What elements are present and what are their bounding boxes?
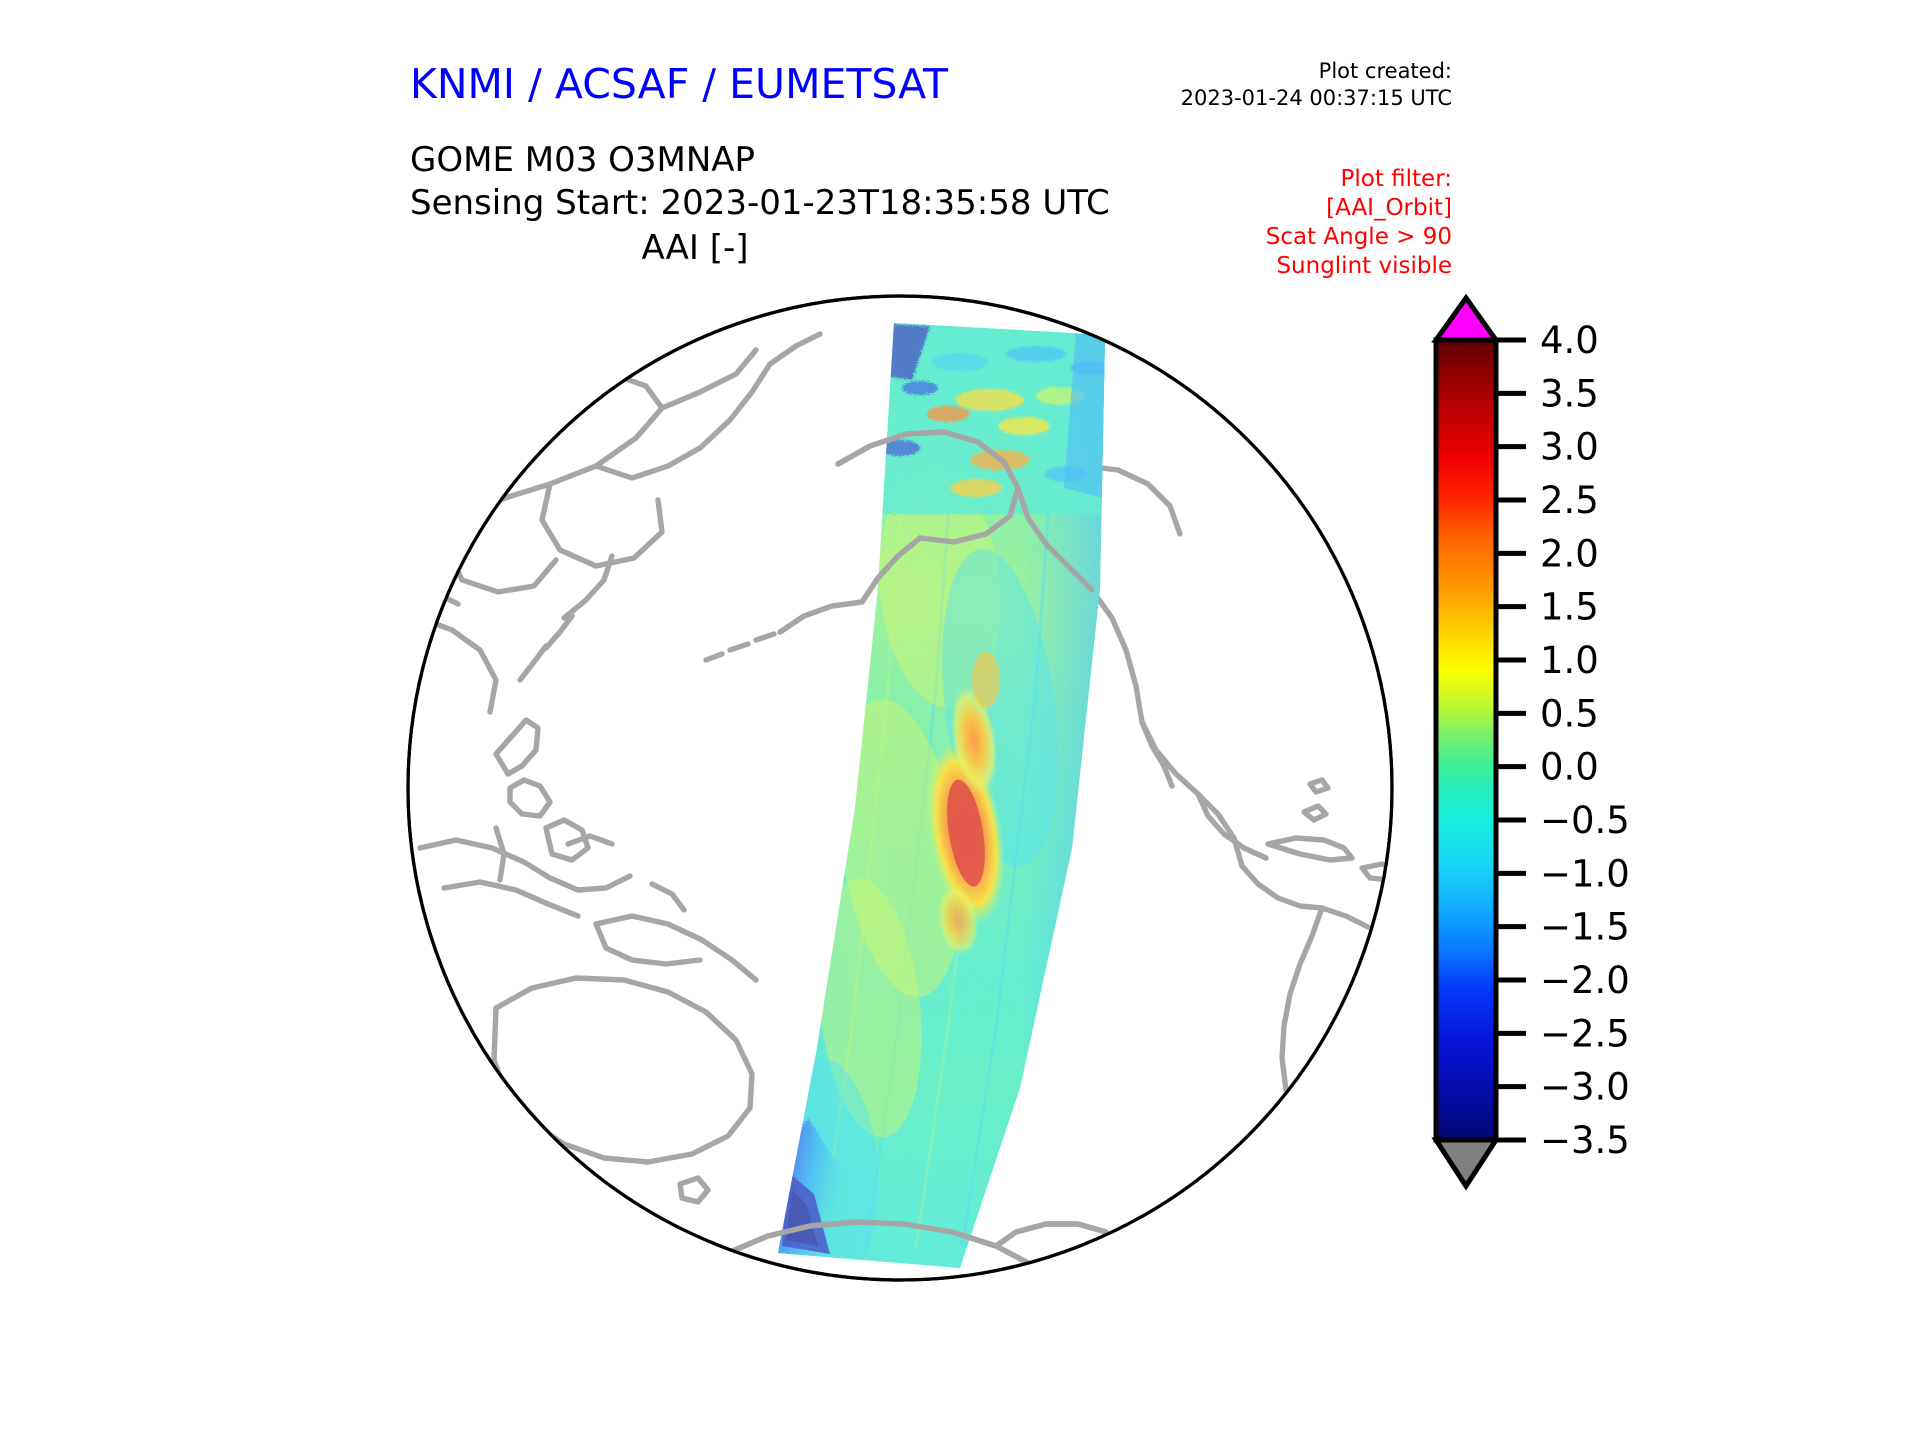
plot-filter-note: Sunglint visible <box>1266 252 1452 281</box>
colorbar-tick-label: 1.5 <box>1540 586 1599 629</box>
colorbar-tick-label: 3.5 <box>1540 372 1599 415</box>
colorbar-tick-label: 3.0 <box>1540 426 1599 469</box>
colorbar-tick-label: −3.0 <box>1540 1066 1630 1109</box>
colorbar-tick-label: −2.0 <box>1540 959 1630 1002</box>
colorbar-tick-label: 0.0 <box>1540 746 1599 789</box>
colorbar-tick-label: −3.5 <box>1540 1119 1630 1162</box>
plot-filter-variable: [AAI_Orbit] <box>1266 194 1452 223</box>
plot-filter-label: Plot filter: <box>1266 165 1452 194</box>
globe-map <box>400 288 1400 1288</box>
colorbar-under-arrow <box>1436 1140 1496 1186</box>
colorbar-tick-label: 0.5 <box>1540 692 1599 735</box>
plot-filter-block: Plot filter: [AAI_Orbit] Scat Angle > 90… <box>1266 165 1452 281</box>
colorbar-tick-label: −1.0 <box>1540 852 1630 895</box>
product-title: GOME M03 O3MNAP <box>410 138 755 182</box>
colorbar-tick-label: 2.5 <box>1540 479 1599 522</box>
plot-created-value: 2023-01-24 00:37:15 UTC <box>1181 85 1452 112</box>
plot-created-block: Plot created: 2023-01-24 00:37:15 UTC <box>1181 58 1452 112</box>
colorbar: 4.03.53.02.52.01.51.00.50.0−0.5−1.0−1.5−… <box>1430 288 1760 1300</box>
colorbar-tick-label: −2.5 <box>1540 1012 1630 1055</box>
colorbar-over-arrow <box>1436 298 1496 340</box>
colorbar-tick-label: −1.5 <box>1540 906 1630 949</box>
plot-created-label: Plot created: <box>1181 58 1452 85</box>
colorbar-tick-label: 1.0 <box>1540 639 1599 682</box>
sensing-start-line: Sensing Start: 2023-01-23T18:35:58 UTC <box>410 183 1110 223</box>
colorbar-tick-label: −0.5 <box>1540 799 1630 842</box>
plot-filter-condition: Scat Angle > 90 <box>1266 223 1452 252</box>
colorbar-tick-label: 2.0 <box>1540 532 1599 575</box>
colorbar-gradient <box>1436 340 1496 1140</box>
page-title: AAI [-] <box>0 228 1390 268</box>
agency-title: KNMI / ACSAF / EUMETSAT <box>410 60 948 108</box>
colorbar-ticks: 4.03.53.02.52.01.51.00.50.0−0.5−1.0−1.5−… <box>1496 319 1630 1162</box>
colorbar-tick-label: 4.0 <box>1540 319 1599 362</box>
